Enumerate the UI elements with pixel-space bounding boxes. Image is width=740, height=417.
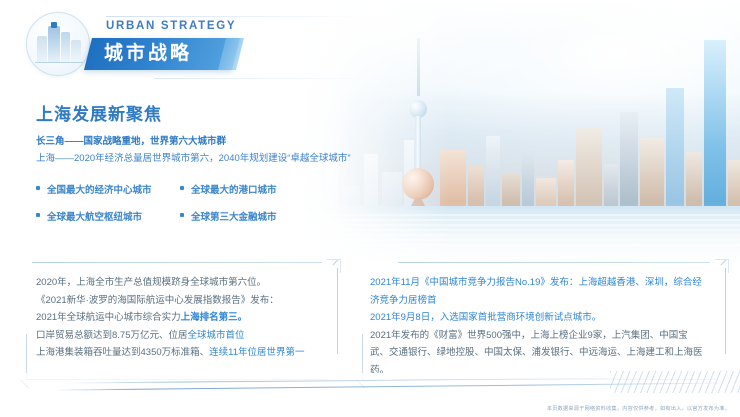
list-item: 全球最大航空枢纽城市 (36, 209, 180, 223)
panel-right-line-2: 2021年9月8日，入选国家首批营商环境创新试点城市。 (370, 309, 704, 327)
panel-right-line-1: 2021年11月《中国城市竞争力报告No.19》发布：上海超越香港、深圳，综合经… (370, 274, 704, 309)
panel-left-text: 2020年，上海全市生产总值规模跻身全球城市第六位。 《2021新华·波罗的海国… (36, 274, 318, 362)
footer-note: 本页数据来源于网络资料收集，内容仅供参考，如有出入，以官方发布为准。 (547, 405, 730, 412)
page-title: 上海发展新聚焦 (36, 100, 162, 125)
text-highlight: 上海排名第三。 (181, 312, 248, 323)
list-item: 全球第三大金融城市 (180, 209, 330, 223)
highlight-bullet-list: 全国最大的经济中心城市 全球最大的港口城市 全球最大航空枢纽城市 全球第三大金融… (36, 182, 356, 223)
panel-left-line-1: 2020年，上海全市生产总值规模跻身全球城市第六位。 (36, 274, 318, 292)
shanghai-skyline-photo (300, 0, 740, 272)
subtitle-block: 长三角——国家战略重地，世界第六大城市群 上海——2020年经济总量居世界城市第… (36, 133, 366, 167)
panel-left-line-5: 上海港集装箱吞吐量达到4350万标准箱、连续11年位居世界第一 (36, 344, 318, 362)
text-highlight: 全球城市首位 (188, 330, 245, 341)
panel-left-line-3: 2021年全球航运中心城市综合实力上海排名第三。 (36, 309, 318, 327)
panel-right-text: 2021年11月《中国城市竞争力报告No.19》发布：上海超越香港、深圳，综合经… (370, 274, 704, 379)
text-plain: 口岸贸易总额达到8.75万亿元、位居 (36, 330, 188, 341)
corner-accent-icon (715, 259, 729, 273)
slide-root: URBAN STRATEGY 城市战略 上海发展新聚焦 长三角——国家战略重地，… (0, 0, 740, 417)
subtitle-line-2: 上海——2020年经济总量居世界城市第六，2040年规划建设“卓越全球城市” (36, 150, 366, 167)
subtitle-line-1: 长三角——国家战略重地，世界第六大城市群 (36, 133, 366, 150)
header-rule-bottom (154, 78, 368, 79)
header-rule-top (106, 16, 368, 17)
info-panel-right: 2021年11月《中国城市竞争力报告No.19》发布：上海超越香港、深圳，综合经… (352, 262, 726, 380)
shanghai-tower (704, 40, 726, 224)
header-eyebrow: URBAN STRATEGY (106, 20, 236, 32)
list-item: 全国最大的经济中心城市 (36, 182, 180, 196)
text-plain: 上海港集装箱吞吐量达到4350万标准箱、 (36, 347, 209, 358)
text-highlight-strong: 榜首 (418, 295, 437, 306)
corner-accent-icon (327, 259, 341, 273)
panel-left-line-4: 口岸贸易总额达到8.75万亿元、位居全球城市首位 (36, 327, 318, 345)
city-buildings-icon (26, 12, 90, 76)
panel-left-line-2: 《2021新华·波罗的海国际航运中心发展指数报告》发布： (36, 292, 318, 310)
list-item: 全球最大的港口城市 (180, 182, 330, 196)
header-banner-title: 城市战略 (104, 41, 236, 67)
bottom-hatch-decoration (610, 371, 740, 393)
photo-top-fade (300, 0, 740, 40)
info-panel-left: 2020年，上海全市生产总值规模跻身全球城市第六位。 《2021新华·波罗的海国… (0, 262, 338, 380)
header: URBAN STRATEGY 城市战略 (26, 10, 366, 80)
text-highlight: 连续11年位居世界第一 (209, 347, 304, 358)
text-plain: 2021年全球航运中心城市综合实力 (36, 312, 181, 323)
